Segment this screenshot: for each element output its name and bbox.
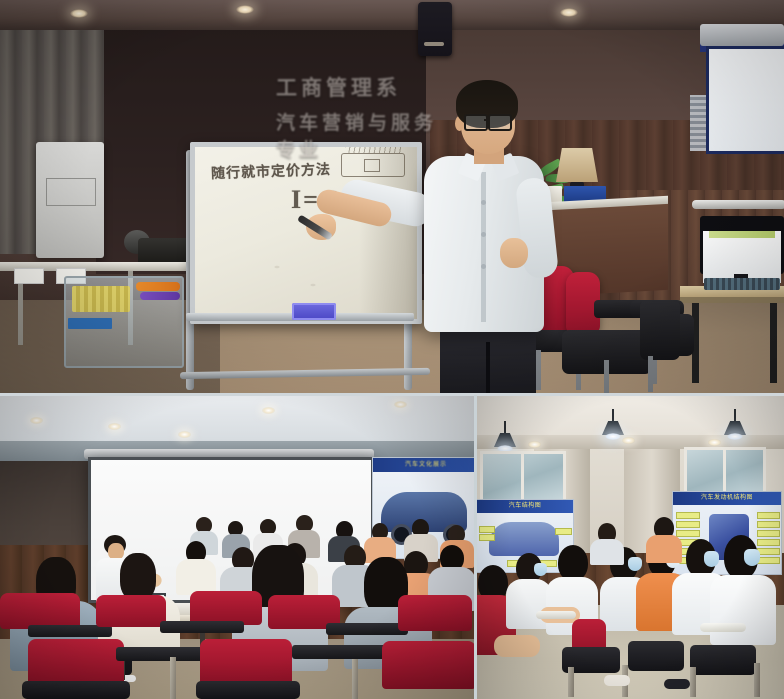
- chair-back: [398, 595, 472, 631]
- poster-title: 汽车发动机结构图: [673, 492, 781, 505]
- instructor-right-hand: [500, 238, 528, 268]
- poster-title: 汽车文化展示: [373, 458, 476, 472]
- ceiling-downlight: [708, 439, 721, 446]
- chair-seat: [628, 641, 684, 671]
- poster-callout-tag: [555, 528, 572, 535]
- ceiling-downlight: [30, 417, 43, 424]
- eyeglasses-left-lens: [464, 114, 488, 131]
- ceiling-downlight: [560, 8, 578, 17]
- collage-seam-horizontal: [0, 393, 784, 396]
- cart-label: [68, 318, 112, 329]
- exhibit-placard: [14, 268, 44, 284]
- trouser-seam: [486, 342, 490, 395]
- notebook: [700, 623, 746, 632]
- wall-department-sign: 工商管理系 汽车营销与服务专业: [276, 72, 452, 134]
- poster-callout-tag: [676, 521, 700, 528]
- chair-back: [28, 639, 124, 687]
- poster-title-bar: 汽车文化展示: [373, 458, 476, 472]
- ceiling-downlight: [394, 401, 407, 408]
- shirt-button: [481, 264, 486, 269]
- whiteboard-heading: 随行就市定价方法: [211, 159, 332, 183]
- board-eraser: [292, 303, 336, 320]
- ceiling-downlight: [178, 431, 191, 438]
- eyeglasses-bridge: [484, 119, 490, 121]
- poster-callout-tag: [757, 557, 780, 564]
- poster-title-bar: 汽车结构图: [477, 500, 573, 513]
- chair-tablet-arm: [160, 621, 244, 633]
- parts-crate: [72, 286, 130, 312]
- collage-seam-vertical: [474, 395, 477, 699]
- poster-callout-tag: [676, 512, 700, 519]
- shoe: [604, 675, 630, 686]
- pendant-lamp-glow: [727, 433, 743, 440]
- face-mask: [744, 549, 760, 566]
- notebook: [536, 611, 576, 619]
- chair-back: [0, 593, 80, 629]
- desk-light-bar: [692, 200, 784, 209]
- chair-leg: [170, 657, 176, 699]
- poster-callout-tag: [757, 521, 780, 528]
- keyboard: [704, 278, 780, 290]
- face-mask: [704, 551, 719, 567]
- student-leg: [494, 635, 540, 657]
- chair-leg: [352, 659, 358, 699]
- poster-callout-tag: [676, 530, 700, 537]
- wall-speaker: [418, 2, 452, 56]
- eyeglasses-right-lens: [488, 114, 512, 131]
- pendant-lamp-cord: [612, 409, 614, 423]
- ceiling-downlight: [262, 407, 275, 414]
- whiteboard-faint-sketch: [229, 243, 349, 303]
- projection-screen-top-right: [706, 46, 784, 154]
- ceiling-downlight: [236, 5, 254, 14]
- chair-leg: [754, 663, 760, 697]
- table-lamp-shade: [556, 148, 598, 182]
- poster-callout-tag: [757, 512, 780, 519]
- orange-tool: [136, 282, 180, 291]
- ceiling-downlight: [108, 423, 121, 430]
- pendant-lamp-cord: [734, 409, 736, 423]
- whiteboard-shadow: [359, 147, 417, 319]
- pendant-lamp-cord: [504, 421, 506, 435]
- shirt-button: [481, 232, 486, 237]
- projection-screen-roller: [700, 24, 784, 46]
- wall-sign-line2: 汽车营销与服务专业: [276, 108, 452, 162]
- chair-seat: [690, 645, 756, 675]
- chair-leg: [568, 667, 574, 697]
- chair-back: [190, 591, 262, 625]
- shoe: [664, 679, 690, 689]
- desktop-monitor: [700, 216, 784, 274]
- ceiling-downlight: [70, 9, 88, 18]
- poster-callout-tag: [757, 539, 780, 546]
- purple-tool: [140, 292, 180, 300]
- poster-title: 汽车结构图: [477, 500, 573, 513]
- equipment-cabinet: [36, 142, 104, 258]
- chair-back: [96, 595, 166, 627]
- chair-tablet-arm: [292, 645, 386, 659]
- chair-leg: [690, 667, 696, 697]
- photo-collage: 工商管理系 汽车营销与服务专业: [0, 0, 784, 699]
- panel-instructor-whiteboard: 工商管理系 汽车营销与服务专业: [0, 0, 784, 395]
- poster-car-cutaway: [489, 522, 559, 556]
- chair-seat: [196, 681, 300, 699]
- desk-leg: [770, 303, 777, 383]
- ceiling-downlight: [622, 437, 635, 444]
- poster-callout-tag: [479, 526, 495, 533]
- chair-back: [200, 639, 292, 685]
- wall-sign-line1: 工商管理系: [276, 72, 452, 102]
- panel-audience-rear-view: 汽车文化展示: [0, 395, 476, 699]
- face-mask: [628, 557, 642, 571]
- poster-callout-tag: [479, 534, 495, 541]
- shirt-button: [481, 200, 486, 205]
- poster-callout-tag: [757, 530, 780, 537]
- pendant-lamp-glow: [605, 433, 621, 440]
- poster-callout-tag: [757, 548, 780, 555]
- panel-audience-side-view: 汽车结构图 汽车发动机结构图: [476, 395, 784, 699]
- chair-tablet-arm: [116, 647, 212, 661]
- shirt-placket: [481, 172, 486, 322]
- chair-seat: [22, 681, 130, 699]
- face-mask: [534, 563, 547, 576]
- poster-title-bar: 汽车发动机结构图: [673, 492, 781, 505]
- chair-back: [382, 641, 476, 689]
- whiteboard: 随行就市定价方法 I=C 1 4 O: [190, 142, 422, 324]
- chair-tablet-arm: [326, 623, 408, 635]
- ceiling-downlight: [528, 441, 541, 448]
- ceiling: [0, 0, 784, 30]
